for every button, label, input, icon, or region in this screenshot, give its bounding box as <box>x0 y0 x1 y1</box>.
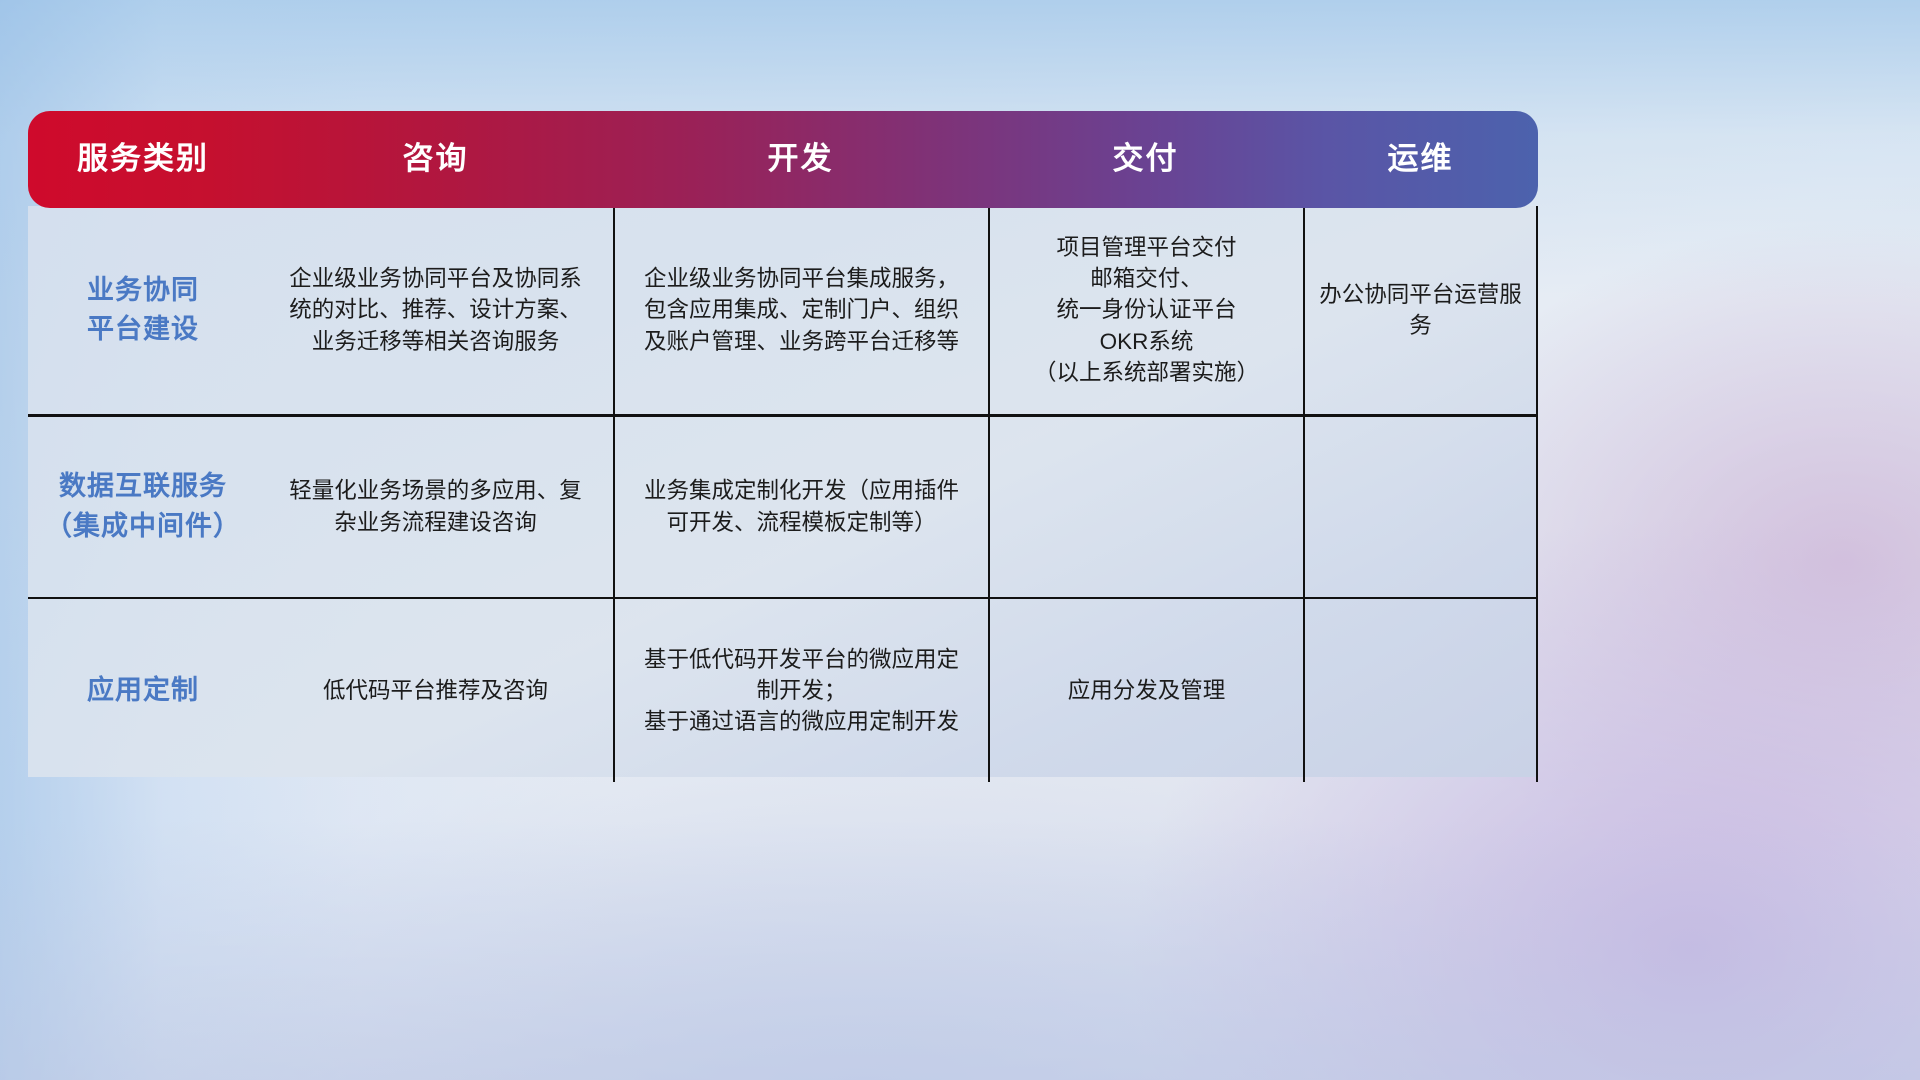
column-header-category: 服务类别 <box>28 142 258 176</box>
table-row: 业务协同 平台建设 企业级业务协同平台及协同系 统的对比、推荐、设计方案、 业务… <box>28 206 1538 414</box>
table-header-row: 服务类别 咨询 开发 交付 运维 <box>28 111 1538 208</box>
row-label-data-integration: 数据互联服务 （集成中间件） <box>28 417 258 597</box>
cell-r1-operations: 办公协同平台运营服务 <box>1303 206 1538 414</box>
cell-r2-development: 业务集成定制化开发（应用插件 可开发、流程模板定制等） <box>613 417 988 597</box>
row-label-app-customization: 应用定制 <box>28 599 258 782</box>
column-header-consulting: 咨询 <box>258 142 613 176</box>
cell-r3-development: 基于低代码开发平台的微应用定 制开发； 基于通过语言的微应用定制开发 <box>613 599 988 782</box>
cell-r1-consulting: 企业级业务协同平台及协同系 统的对比、推荐、设计方案、 业务迁移等相关咨询服务 <box>258 206 613 414</box>
cell-r1-delivery: 项目管理平台交付 邮箱交付、 统一身份认证平台 OKR系统 （以上系统部署实施） <box>988 206 1303 414</box>
cell-r2-operations <box>1303 417 1538 597</box>
table-row: 数据互联服务 （集成中间件） 轻量化业务场景的多应用、复 杂业务流程建设咨询 业… <box>28 417 1538 597</box>
cell-r2-consulting: 轻量化业务场景的多应用、复 杂业务流程建设咨询 <box>258 417 613 597</box>
cell-r3-consulting: 低代码平台推荐及咨询 <box>258 599 613 782</box>
cell-r3-operations <box>1303 599 1538 782</box>
service-matrix-table: 服务类别 咨询 开发 交付 运维 业务协同 平台建设 企业级业务协同平台及协同系… <box>28 111 1538 777</box>
column-header-delivery: 交付 <box>988 142 1303 176</box>
row-label-business-collaboration: 业务协同 平台建设 <box>28 206 258 414</box>
column-header-operations: 运维 <box>1303 142 1538 176</box>
cell-r2-delivery <box>988 417 1303 597</box>
table-grid-body: 业务协同 平台建设 企业级业务协同平台及协同系 统的对比、推荐、设计方案、 业务… <box>28 206 1538 777</box>
cell-r1-development: 企业级业务协同平台集成服务， 包含应用集成、定制门户、组织 及账户管理、业务跨平… <box>613 206 988 414</box>
column-header-development: 开发 <box>613 142 988 176</box>
background-bottom-glow <box>0 820 1920 1080</box>
cell-r3-delivery: 应用分发及管理 <box>988 599 1303 782</box>
table-row: 应用定制 低代码平台推荐及咨询 基于低代码开发平台的微应用定 制开发； 基于通过… <box>28 599 1538 782</box>
